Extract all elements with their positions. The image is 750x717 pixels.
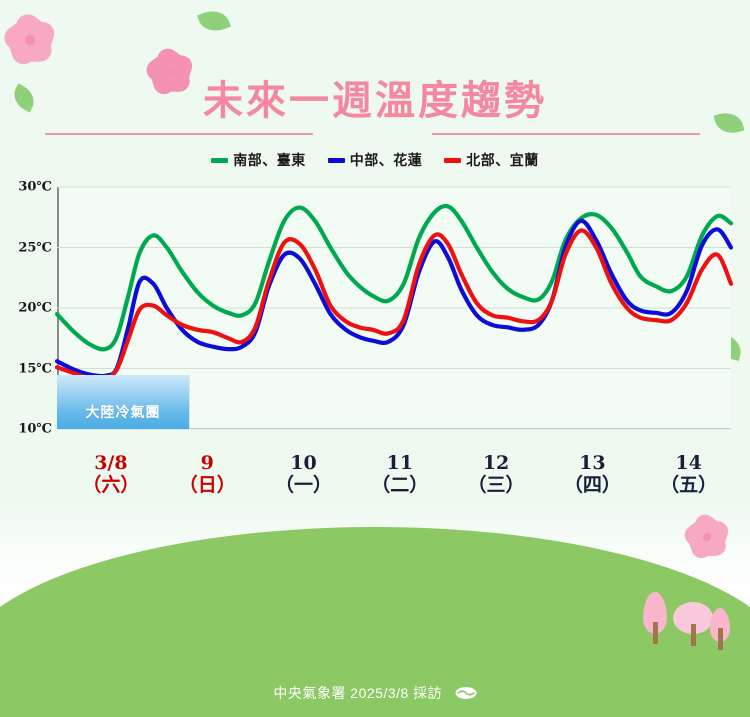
x-axis-weekday: （三）: [456, 474, 536, 496]
cwa-logo-icon: [455, 686, 477, 700]
chart-legend: 南部、臺東中部、花蓮北部、宜蘭: [0, 150, 750, 170]
cold-air-mass-annotation: 大陸冷氣團: [57, 375, 190, 429]
x-axis-date: 12: [456, 452, 536, 474]
legend-item: 北部、宜蘭: [444, 150, 539, 170]
line-swatch-icon: [444, 158, 461, 163]
x-axis-label: 11（二）: [360, 452, 440, 497]
x-axis-weekday: （六）: [71, 474, 151, 496]
title-rule-right: [432, 133, 700, 135]
legend-item: 南部、臺東: [211, 150, 306, 170]
x-axis-label: 12（三）: [456, 452, 536, 497]
x-axis-label: 3/8（六）: [71, 452, 151, 497]
leaf-icon: [197, 6, 231, 36]
cherry-tree: [640, 592, 670, 644]
weather-infographic: 未來一週溫度趨勢 南部、臺東中部、花蓮北部、宜蘭 大陸冷氣團 30℃25℃20℃…: [0, 0, 750, 717]
x-axis-weekday: （一）: [263, 474, 343, 496]
footer: 中央氣象署 2025/3/8 採訪: [0, 683, 750, 703]
line-swatch-icon: [211, 158, 228, 163]
cherry-blossom-icon: [8, 18, 52, 62]
page-title: 未來一週溫度趨勢: [0, 68, 750, 126]
x-axis-weekday: （二）: [360, 474, 440, 496]
x-axis-label: 13（四）: [552, 452, 632, 497]
temperature-chart: 大陸冷氣團: [57, 187, 731, 429]
legend-item-label: 中部、花蓮: [350, 150, 423, 170]
x-axis-label: 14（五）: [649, 452, 729, 497]
x-axis-date: 3/8: [71, 452, 151, 474]
cherry-blossom-icon: [688, 518, 726, 556]
line-swatch-icon: [328, 158, 345, 163]
y-axis-tick-label: 15℃: [0, 361, 52, 376]
cold-air-mass-label: 大陸冷氣團: [86, 402, 161, 422]
x-axis-weekday: （五）: [649, 474, 729, 496]
x-axis-date: 10: [263, 452, 343, 474]
cherry-tree: [673, 598, 713, 646]
legend-item-label: 南部、臺東: [233, 150, 306, 170]
x-axis-weekday: （四）: [552, 474, 632, 496]
y-axis-tick-label: 10℃: [0, 422, 52, 437]
y-axis-tick-label: 30℃: [0, 180, 52, 195]
x-axis-label: 9（日）: [167, 452, 247, 497]
y-axis-tick-label: 25℃: [0, 240, 52, 255]
green-hill: [0, 527, 750, 667]
legend-item-label: 北部、宜蘭: [466, 150, 539, 170]
x-axis-date: 13: [552, 452, 632, 474]
cherry-tree: [708, 608, 732, 650]
x-axis-date: 9: [167, 452, 247, 474]
footer-credit: 中央氣象署 2025/3/8 採訪: [273, 685, 442, 701]
x-axis-label: 10（一）: [263, 452, 343, 497]
x-axis-weekday: （日）: [167, 474, 247, 496]
x-axis-date: 11: [360, 452, 440, 474]
x-axis-labels: 3/8（六）9（日）10（一）11（二）12（三）13（四）14（五）: [57, 452, 731, 512]
title-rule-left: [45, 133, 313, 135]
series-line: [57, 206, 731, 349]
x-axis-date: 14: [649, 452, 729, 474]
legend-item: 中部、花蓮: [328, 150, 423, 170]
y-axis-tick-label: 20℃: [0, 301, 52, 316]
